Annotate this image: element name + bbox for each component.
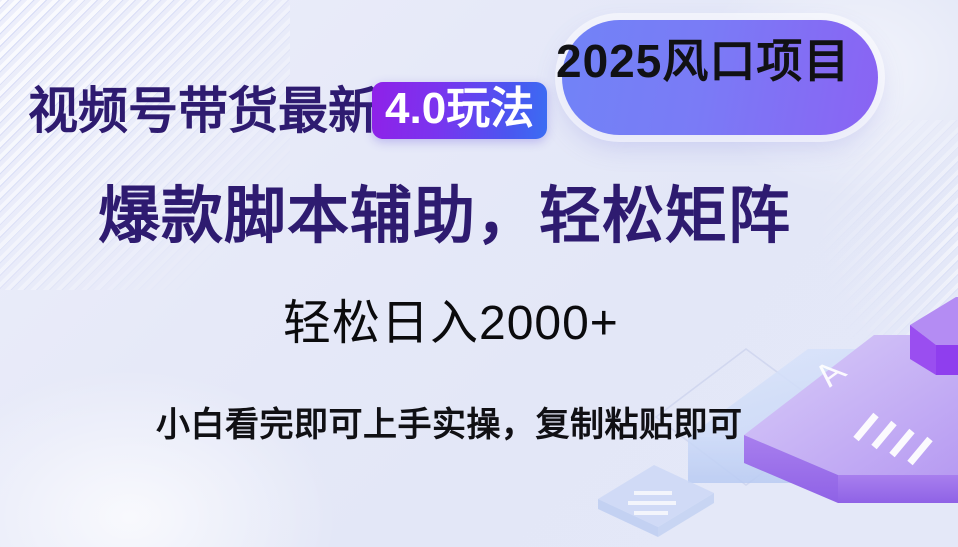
- background-glow-left: [0, 367, 340, 547]
- year-pill-label: 2025风口项目: [556, 38, 958, 84]
- headline-line-1-prefix: 视频号带货最新: [28, 86, 378, 136]
- purple-block: [910, 297, 958, 375]
- purple-card: A: [744, 335, 958, 503]
- headline-line-2: 爆款脚本辅助，轻松矩阵: [98, 186, 791, 248]
- card-letter-a: A: [806, 355, 854, 393]
- headline-line-4: 小白看完即可上手实操，复制粘贴即可: [156, 408, 743, 442]
- version-badge: 4.0玩法: [372, 82, 547, 139]
- mini-doc: [598, 465, 714, 537]
- headline-line-1: 视频号带货最新4.0玩法: [28, 82, 547, 139]
- headline-line-3: 轻松日入2000+: [283, 300, 619, 348]
- poster-canvas: A 2025风口项目 视频号带货最新4.0玩法 爆款脚本辅助，轻松矩阵 轻松日入…: [0, 0, 958, 547]
